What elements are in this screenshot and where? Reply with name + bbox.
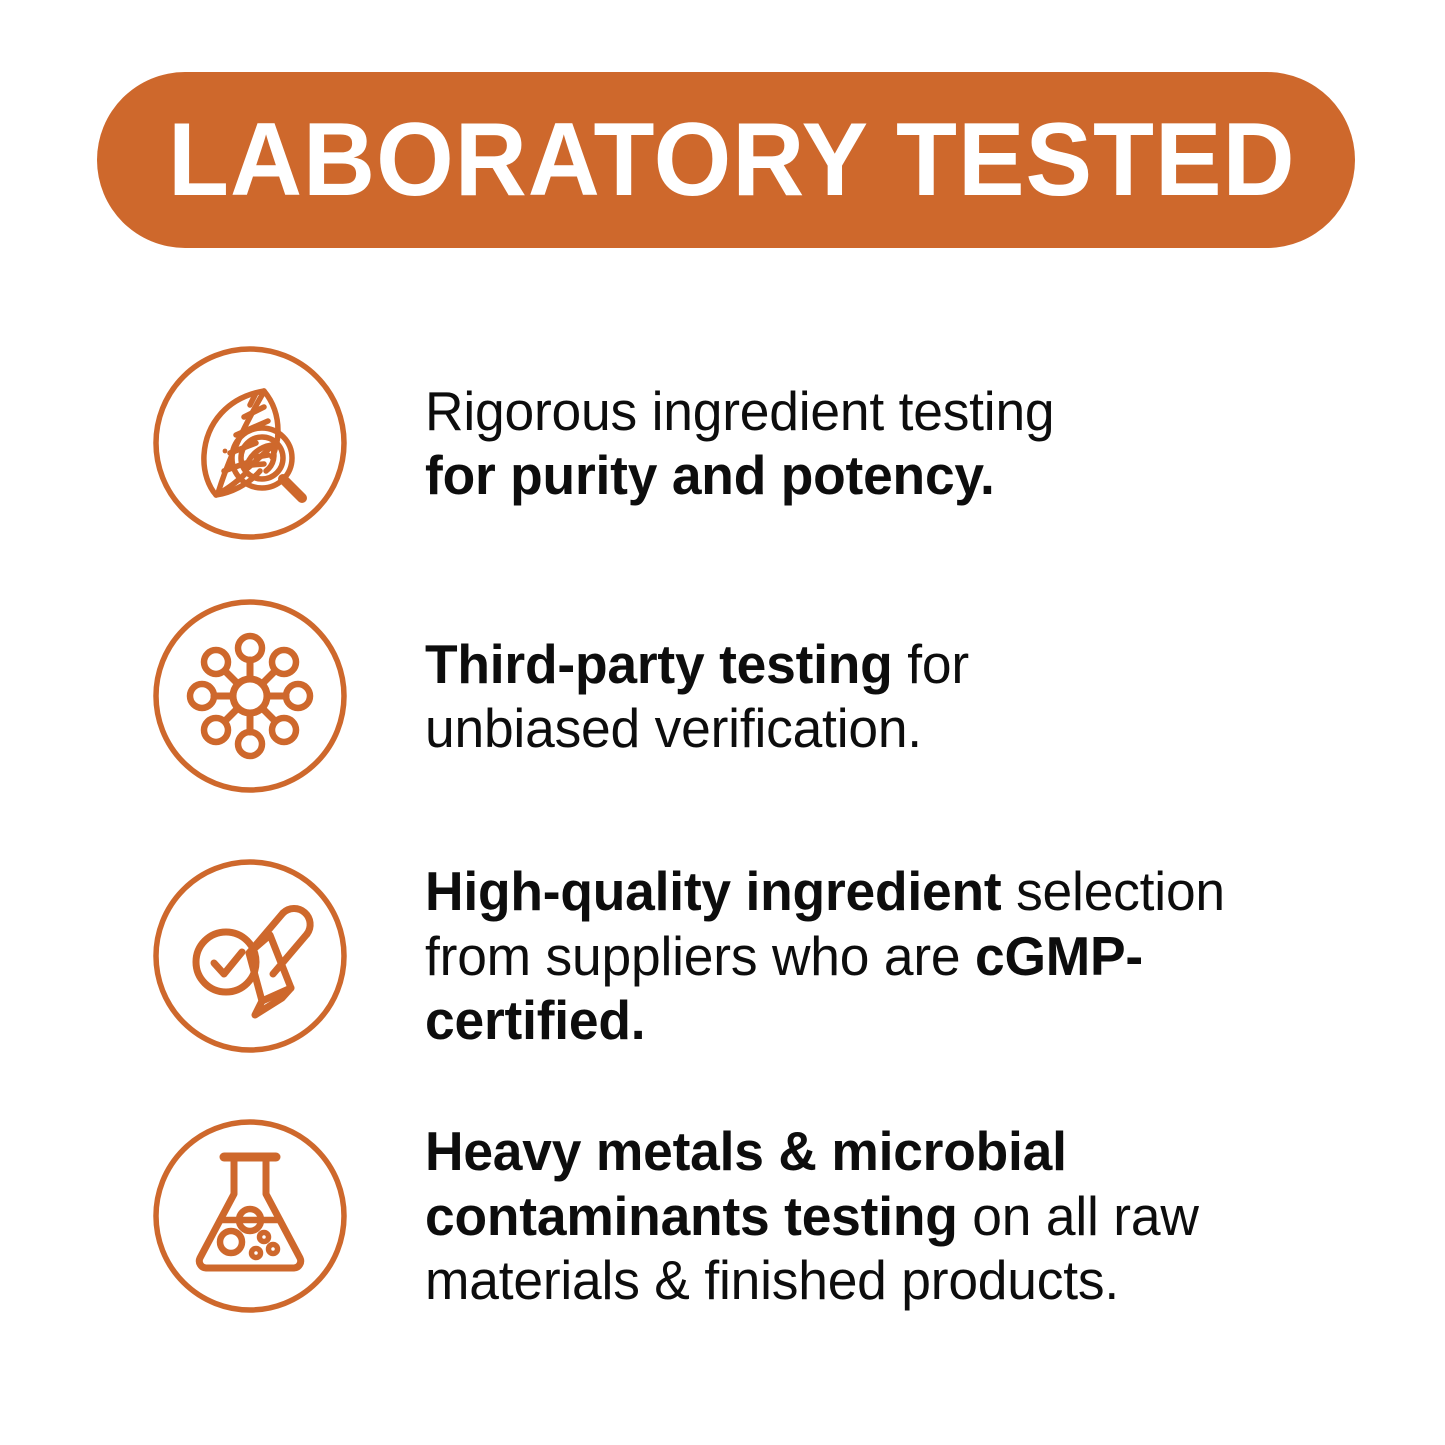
feature-row-2: Third-party testing for unbiased verific… — [0, 598, 1445, 794]
feature-1-segment-1: Rigorous ingredient testing — [425, 380, 1054, 442]
feature-2-segment-1: Third-party testing — [425, 633, 907, 695]
feature-row-4: Heavy metals & microbial contaminants te… — [0, 1118, 1445, 1314]
feature-text-3: High-quality ingredient selection from s… — [425, 859, 1298, 1052]
stamp-check-icon — [152, 858, 348, 1054]
feature-text-2: Third-party testing for unbiased verific… — [425, 632, 1065, 761]
feature-4-segment-1: Heavy metals & microbial contaminants te… — [425, 1120, 1067, 1246]
feature-row-3: High-quality ingredient selection from s… — [0, 858, 1445, 1054]
feature-3-segment-1: High-quality ingredient — [425, 860, 1016, 922]
feature-text-4: Heavy metals & microbial contaminants te… — [425, 1119, 1303, 1312]
feature-text-1: Rigorous ingredient testing for purity a… — [425, 379, 1162, 508]
flask-icon — [152, 1118, 348, 1314]
feature-row-1: Rigorous ingredient testing for purity a… — [0, 345, 1445, 541]
infographic-canvas: LABORATORY TESTED — [0, 0, 1445, 1445]
laboratory-tested-banner: LABORATORY TESTED — [97, 72, 1355, 248]
network-hub-icon — [152, 598, 348, 794]
banner-title: LABORATORY TESTED — [97, 108, 1296, 212]
leaf-magnifier-icon — [152, 345, 348, 541]
feature-1-segment-2: for purity and potency. — [425, 444, 995, 506]
